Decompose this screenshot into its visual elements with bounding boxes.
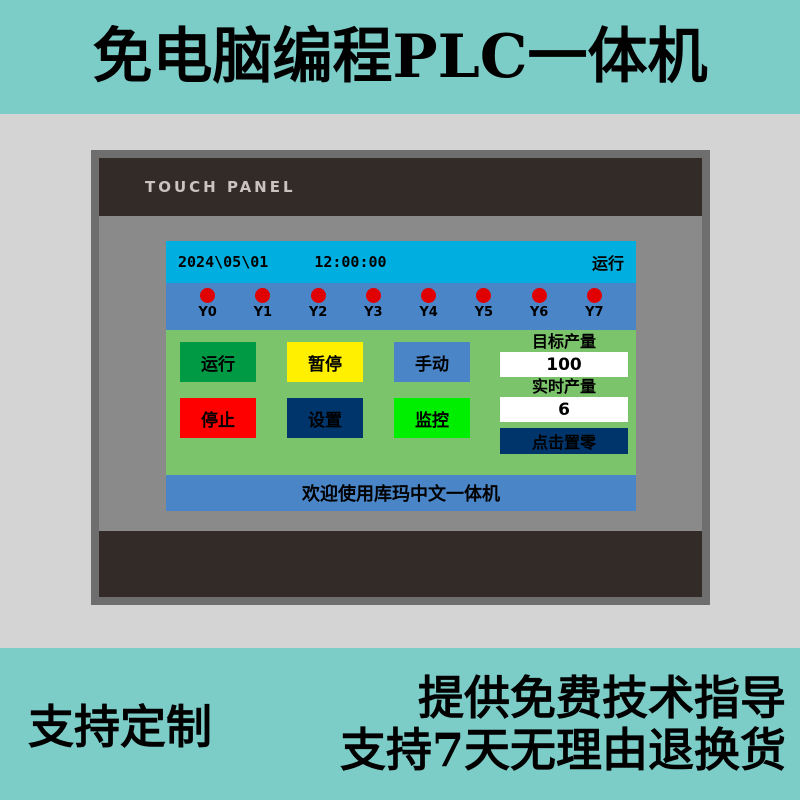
control-button-grid: 运行 暂停 手动 停止 设置 监控 bbox=[180, 342, 470, 438]
led-cell-y6[interactable]: Y6 bbox=[518, 288, 560, 320]
led-cell-y5[interactable]: Y5 bbox=[463, 288, 505, 320]
run-button[interactable]: 运行 bbox=[180, 342, 256, 382]
led-label: Y0 bbox=[198, 305, 216, 320]
touch-panel-brand-label: TOUCH PANEL bbox=[145, 178, 296, 196]
screen-surround: 2024\05\01 12:00:00 运行 Y0 Y1 bbox=[99, 216, 702, 531]
plc-device-body: TOUCH PANEL 2024\05\01 12:00:00 运行 Y0 bbox=[99, 158, 702, 597]
led-label: Y1 bbox=[254, 305, 272, 320]
led-indicator-icon bbox=[421, 288, 436, 303]
monitor-button[interactable]: 监控 bbox=[394, 398, 470, 438]
plc-device-bezel: TOUCH PANEL 2024\05\01 12:00:00 运行 Y0 bbox=[91, 150, 710, 605]
led-label: Y7 bbox=[585, 305, 603, 320]
settings-button[interactable]: 设置 bbox=[287, 398, 363, 438]
actual-output-label: 实时产量 bbox=[500, 377, 628, 397]
led-indicator-icon bbox=[587, 288, 602, 303]
manual-button[interactable]: 手动 bbox=[394, 342, 470, 382]
led-label: Y4 bbox=[419, 305, 437, 320]
bottom-banner-support-line: 提供免费技术指导 bbox=[418, 672, 786, 724]
hmi-status-bar: 2024\05\01 12:00:00 运行 bbox=[166, 241, 636, 283]
led-label: Y5 bbox=[475, 305, 493, 320]
output-led-row: Y0 Y1 Y2 Y3 bbox=[166, 283, 636, 330]
led-cell-y4[interactable]: Y4 bbox=[408, 288, 450, 320]
led-cell-y3[interactable]: Y3 bbox=[352, 288, 394, 320]
led-label: Y2 bbox=[309, 305, 327, 320]
led-indicator-icon bbox=[200, 288, 215, 303]
bottom-banner-custom-text: 支持定制 bbox=[28, 691, 212, 757]
target-output-label: 目标产量 bbox=[500, 332, 628, 352]
control-area: 运行 暂停 手动 停止 设置 监控 目标产量 100 实时产量 6 点击置零 bbox=[166, 330, 636, 475]
production-readout: 目标产量 100 实时产量 6 点击置零 bbox=[500, 332, 628, 454]
led-indicator-icon bbox=[311, 288, 326, 303]
actual-output-value[interactable]: 6 bbox=[500, 397, 628, 422]
led-indicator-icon bbox=[476, 288, 491, 303]
led-indicator-icon bbox=[255, 288, 270, 303]
device-bottom-strip bbox=[99, 531, 702, 597]
led-cell-y7[interactable]: Y7 bbox=[573, 288, 615, 320]
target-output-value[interactable]: 100 bbox=[500, 352, 628, 377]
pause-button[interactable]: 暂停 bbox=[287, 342, 363, 382]
top-banner-headline: 免电脑编程PLC一体机 bbox=[92, 27, 707, 87]
led-cell-y2[interactable]: Y2 bbox=[297, 288, 339, 320]
led-label: Y3 bbox=[364, 305, 382, 320]
led-label: Y6 bbox=[530, 305, 548, 320]
stop-button[interactable]: 停止 bbox=[180, 398, 256, 438]
led-cell-y1[interactable]: Y1 bbox=[242, 288, 284, 320]
bottom-banner: 支持定制 提供免费技术指导 支持7天无理由退换货 bbox=[0, 648, 800, 800]
reset-counter-button[interactable]: 点击置零 bbox=[500, 428, 628, 454]
bottom-banner-service-block: 提供免费技术指导 支持7天无理由退换货 bbox=[340, 672, 786, 776]
led-cell-y0[interactable]: Y0 bbox=[187, 288, 229, 320]
led-indicator-icon bbox=[532, 288, 547, 303]
status-run-state: 运行 bbox=[592, 250, 624, 274]
status-time: 12:00:00 bbox=[314, 253, 386, 271]
bottom-banner-return-line: 支持7天无理由退换货 bbox=[340, 724, 786, 776]
device-header: TOUCH PANEL bbox=[99, 158, 702, 216]
hmi-screen: 2024\05\01 12:00:00 运行 Y0 Y1 bbox=[166, 241, 636, 511]
status-date: 2024\05\01 bbox=[178, 253, 268, 271]
welcome-bar: 欢迎使用库玛中文一体机 bbox=[166, 475, 636, 511]
led-indicator-icon bbox=[366, 288, 381, 303]
top-banner: 免电脑编程PLC一体机 bbox=[0, 0, 800, 114]
